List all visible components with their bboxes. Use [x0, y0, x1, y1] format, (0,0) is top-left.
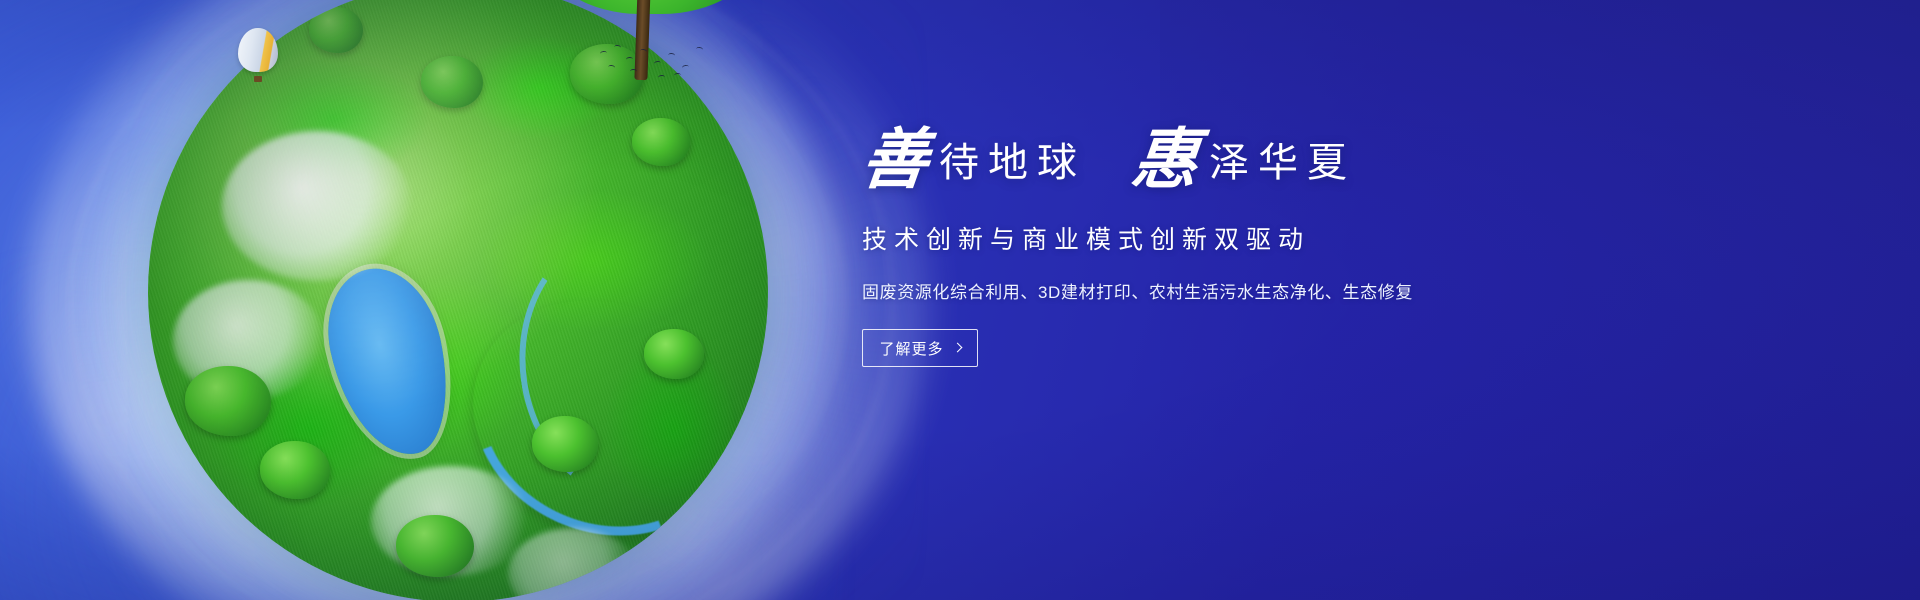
headline-rest-1: 待地球	[935, 143, 1086, 183]
hero-subtitle: 技术创新与商业模式创新双驱动	[862, 220, 1602, 256]
hot-air-balloon-icon	[238, 28, 278, 78]
headline-rest-2: 泽华夏	[1205, 143, 1356, 183]
learn-more-label: 了解更多	[879, 338, 943, 359]
learn-more-button[interactable]: 了解更多	[862, 329, 978, 367]
chevron-right-icon	[952, 342, 962, 352]
hero-banner: 善 待地球 惠 泽华夏 技术创新与商业模式创新双驱动 固废资源化综合利用、3D建…	[0, 0, 1920, 600]
balloon-basket	[254, 76, 262, 82]
hero-copy: 善 待地球 惠 泽华夏 技术创新与商业模式创新双驱动 固废资源化综合利用、3D建…	[862, 128, 1602, 367]
hero-description: 固废资源化综合利用、3D建材打印、农村生活污水生态净化、生态修复	[862, 278, 1602, 303]
balloon-envelope	[238, 28, 278, 72]
headline-char-2: 惠	[1129, 128, 1209, 194]
page-title: 善 待地球 惠 泽华夏	[862, 128, 1602, 194]
headline-char-1: 善	[859, 128, 939, 194]
